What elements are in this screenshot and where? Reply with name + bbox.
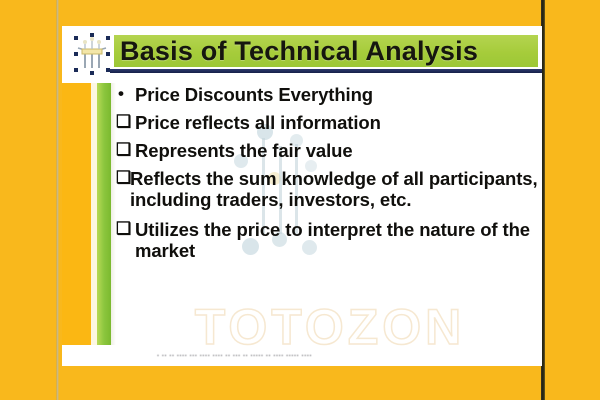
list-item-label: Represents the fair value bbox=[135, 140, 540, 161]
list-item-label: Utilizes the price to interpret the natu… bbox=[135, 219, 540, 261]
bullet-list: • Price Discounts Everything ❑ Price ref… bbox=[116, 84, 540, 271]
square-bullet-icon: ❑ bbox=[116, 219, 135, 238]
slide-viewer: Basis of Technical Analysis • Price Disc… bbox=[0, 0, 600, 400]
accent-bar-green bbox=[97, 83, 111, 345]
list-item[interactable]: ❑ Represents the fair value bbox=[116, 140, 540, 161]
square-bullet-icon: ❑ bbox=[116, 112, 135, 131]
square-bullet-icon: ❑ bbox=[116, 140, 135, 159]
presentation-slide[interactable]: Basis of Technical Analysis • Price Disc… bbox=[62, 26, 542, 366]
list-item-label: Price reflects all information bbox=[135, 112, 540, 133]
list-item[interactable]: ❑ Reflects the sum knowledge of all part… bbox=[116, 168, 540, 210]
list-item-label: Price Discounts Everything bbox=[135, 84, 540, 105]
slide-title: Basis of Technical Analysis bbox=[120, 34, 540, 68]
list-item[interactable]: • Price Discounts Everything bbox=[116, 84, 540, 105]
list-item[interactable]: ❑ Price reflects all information bbox=[116, 112, 540, 133]
slide-footer-text: · ·· ·· ···· ··· ···· ···· ·· ··· ·· ···… bbox=[157, 353, 477, 362]
dot-bullet-icon: • bbox=[116, 84, 135, 103]
list-item-label: Reflects the sum knowledge of all partic… bbox=[130, 168, 540, 210]
totozon-watermark: TOTOZON bbox=[120, 298, 540, 356]
accent-bar-orange bbox=[62, 83, 91, 345]
square-bullet-icon: ❑ bbox=[116, 168, 130, 187]
title-underline-rule bbox=[110, 69, 542, 73]
left-guide-line bbox=[56, 0, 59, 400]
presentation-clipart-icon[interactable] bbox=[70, 32, 114, 76]
list-item[interactable]: ❑ Utilizes the price to interpret the na… bbox=[116, 219, 540, 261]
